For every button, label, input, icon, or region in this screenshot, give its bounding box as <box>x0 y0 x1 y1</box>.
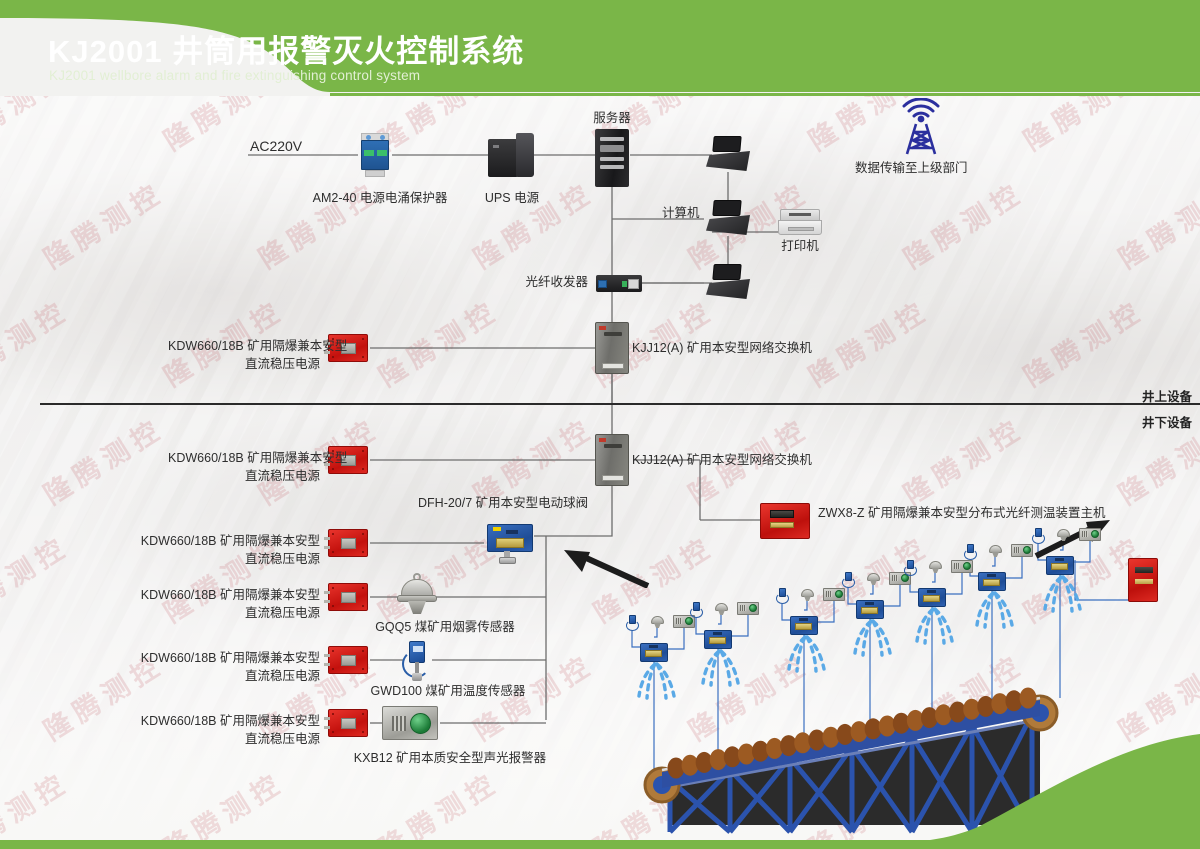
mini-alarm-icon <box>823 588 845 601</box>
ups-label: UPS 电源 <box>480 190 544 207</box>
mini-alarm-icon <box>1079 528 1101 541</box>
computer-device-1 <box>706 136 750 172</box>
mini-ball-valve-icon <box>704 630 732 649</box>
mini-smoke-sensor-icon <box>988 542 1003 558</box>
mini-temperature-sensor-icon <box>1032 528 1045 545</box>
power-supply-label-4-line1: KDW660/18B 矿用隔爆兼本安型 <box>80 650 320 667</box>
computer-label: 计算机 <box>662 205 700 222</box>
mini-temperature-sensor-icon <box>842 572 855 589</box>
mini-ball-valve-icon <box>1046 556 1074 575</box>
surface-switch-label: KJJ12(A) 矿用本安型网络交换机 <box>632 340 812 357</box>
surface-switch-device <box>595 322 629 374</box>
water-spray-icon <box>784 635 828 688</box>
mini-ball-valve-icon <box>790 616 818 635</box>
temperature-sensor-device <box>400 638 434 686</box>
printer-device <box>778 209 822 237</box>
surface-power-supply-label-line2: 直流稳压电源 <box>168 356 320 373</box>
computer-device-2 <box>706 200 750 236</box>
computer-device-3 <box>706 264 750 300</box>
power-supply-label-5-line1: KDW660/18B 矿用隔爆兼本安型 <box>80 713 320 730</box>
underground-switch-label: KJJ12(A) 矿用本安型网络交换机 <box>632 452 812 469</box>
page-title: KJ2001 井筒用报警灭火控制系统 <box>48 26 524 71</box>
header-rule <box>330 93 1200 96</box>
pointer-arrow-left <box>560 546 650 593</box>
water-spray-icon <box>912 607 956 660</box>
diagram-page: 隆腾测控隆腾测控隆腾测控隆腾测控隆腾测控隆腾测控隆腾测控隆腾测控隆腾测控隆腾测控… <box>0 0 1200 849</box>
power-supply-label-2-line2: 直流稳压电源 <box>80 551 320 568</box>
mini-ball-valve-icon <box>918 588 946 607</box>
fiber-temp-host-device <box>760 503 810 539</box>
power-supply-label-2-line1: KDW660/18B 矿用隔爆兼本安型 <box>80 533 320 550</box>
surface-power-supply-label-line1: KDW660/18B 矿用隔爆兼本安型 <box>168 338 320 355</box>
underground-switch-device <box>595 434 629 486</box>
power-supply-label-1-line1: KDW660/18B 矿用隔爆兼本安型 <box>168 450 320 467</box>
mini-smoke-sensor-icon <box>714 600 729 616</box>
surface-underground-divider <box>40 403 1200 405</box>
mini-alarm-icon <box>951 560 973 573</box>
printer-label: 打印机 <box>770 238 830 255</box>
mini-temperature-sensor-icon <box>626 615 639 632</box>
water-spray-icon <box>698 649 742 702</box>
mini-alarm-icon <box>737 602 759 615</box>
mini-temperature-sensor-icon <box>904 560 917 577</box>
mini-ball-valve-icon <box>640 643 668 662</box>
water-spray-icon <box>634 662 678 715</box>
mini-smoke-sensor-icon <box>928 558 943 574</box>
mini-temperature-sensor-icon <box>964 544 977 561</box>
water-spray-icon <box>850 619 894 672</box>
corner-decoration-bottom-right <box>870 734 1200 849</box>
power-supply-label-3-line1: KDW660/18B 矿用隔爆兼本安型 <box>80 587 320 604</box>
mini-temperature-sensor-icon <box>690 602 703 619</box>
smoke-sensor-label: GQQ5 煤矿用烟雾传感器 <box>330 619 560 636</box>
fiber-transceiver-device <box>596 272 642 294</box>
ball-valve-label: DFH-20/7 矿用本安型电动球阀 <box>418 495 588 512</box>
mini-smoke-sensor-icon <box>866 570 881 586</box>
power-supply-device-4 <box>324 646 370 674</box>
fiber-transceiver-label: 光纤收发器 <box>448 274 588 291</box>
page-subtitle: KJ2001 wellbore alarm and fire extinguis… <box>49 68 420 83</box>
power-supply-label-1-line2: 直流稳压电源 <box>168 468 320 485</box>
antenna-label: 数据传输至上级部门 <box>855 160 968 177</box>
smoke-sensor-device <box>396 573 438 617</box>
ball-valve-device <box>484 522 536 566</box>
alarm-label: KXB12 矿用本质安全型声光报警器 <box>300 750 600 767</box>
divider-label-above: 井上设备 <box>1142 386 1192 405</box>
temperature-sensor-label: GWD100 煤矿用温度传感器 <box>330 683 566 700</box>
audible-visual-alarm-device <box>382 706 438 740</box>
power-supply-device-3 <box>324 583 370 611</box>
mini-ball-valve-icon <box>978 572 1006 591</box>
power-supply-label-4-line2: 直流稳压电源 <box>80 668 320 685</box>
surge-protector-label: AM2-40 电源电涌保护器 <box>305 190 455 207</box>
belt-junction-box-device <box>1128 558 1158 602</box>
mini-temperature-sensor-icon <box>776 588 789 605</box>
ups-device <box>488 133 534 177</box>
antenna-icon <box>890 98 952 160</box>
power-supply-label-3-line2: 直流稳压电源 <box>80 605 320 622</box>
divider-label-below: 井下设备 <box>1142 412 1192 431</box>
power-supply-label-5-line2: 直流稳压电源 <box>80 731 320 748</box>
power-supply-device-5 <box>324 709 370 737</box>
mini-smoke-sensor-icon <box>650 613 665 629</box>
mini-alarm-icon <box>1011 544 1033 557</box>
water-spray-icon <box>972 591 1016 644</box>
page-header: KJ2001 井筒用报警灭火控制系统 KJ2001 wellbore alarm… <box>0 0 1200 104</box>
surge-protector-device <box>358 132 392 178</box>
ac220v-label: AC220V <box>250 138 302 155</box>
mini-smoke-sensor-icon <box>1056 526 1071 542</box>
mini-ball-valve-icon <box>856 600 884 619</box>
water-spray-icon <box>1040 575 1084 628</box>
mini-smoke-sensor-icon <box>800 586 815 602</box>
bottom-accent-bar <box>0 840 1200 849</box>
power-supply-device-2 <box>324 529 370 557</box>
server-label: 服务器 <box>576 110 648 127</box>
server-device <box>595 129 629 187</box>
